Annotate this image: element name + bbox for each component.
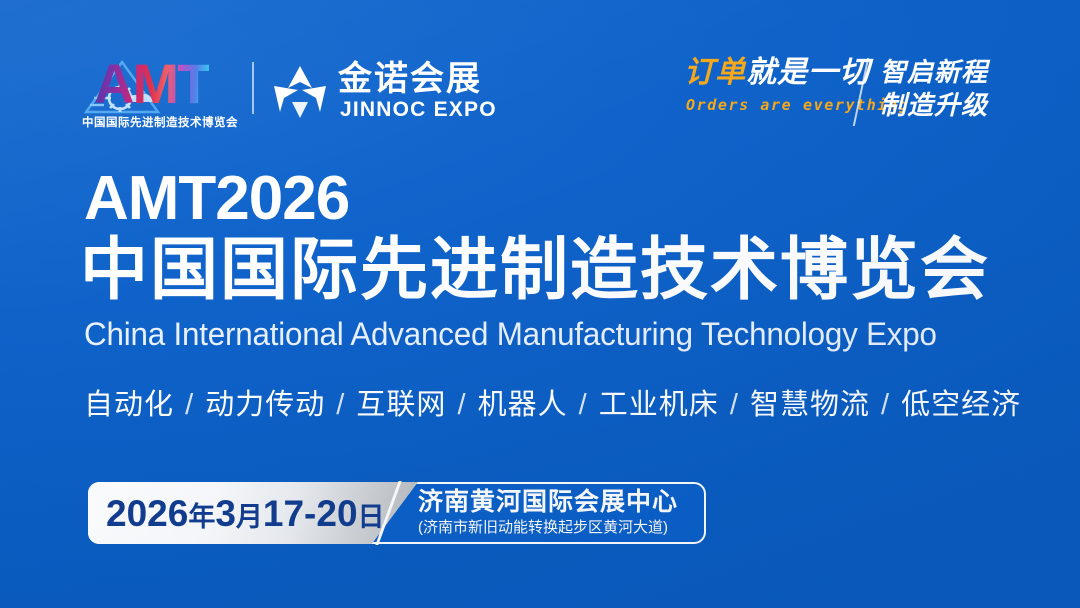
- event-poster: AMT 中国国际先进制造技术博览会 金诺会展 JINNOC EXPO 订单就是一…: [0, 0, 1080, 608]
- date-day-unit: 日: [358, 502, 385, 532]
- category-item: 互联网: [356, 389, 446, 421]
- date-days: 17-20: [263, 493, 358, 534]
- slogan-right-block: 智启新程 制造升级: [880, 56, 988, 122]
- venue-info: 济南黄河国际会展中心 (济南市新旧动能转换起步区黄河大道): [418, 488, 698, 537]
- poster-header: AMT 中国国际先进制造技术博览会 金诺会展 JINNOC EXPO 订单就是一…: [0, 48, 1080, 138]
- category-separator: /: [870, 389, 901, 421]
- category-item: 低空经济: [901, 389, 1021, 421]
- logo-divider: [252, 62, 254, 114]
- date-month: 3: [215, 493, 236, 534]
- slogan-line-1: 订单就是一切: [684, 56, 870, 90]
- slogan-line-english: Orders are everything: [686, 96, 909, 114]
- title-english: China International Advanced Manufacturi…: [84, 314, 937, 354]
- date-venue-bar: 2026年3月17-20日 济南黄河国际会展中心 (济南市新旧动能转换起步区黄河…: [88, 482, 706, 544]
- slogan-highlight: 订单: [684, 56, 746, 89]
- date-year-unit: 年: [188, 502, 215, 532]
- category-separator: /: [719, 389, 750, 421]
- slogan-right-line-1: 智启新程: [880, 56, 988, 89]
- header-slogan: 订单就是一切 Orders are everything 智启新程 制造升级: [684, 56, 1014, 132]
- amt-logo-subtitle: 中国国际先进制造技术博览会: [80, 114, 240, 130]
- category-separator: /: [568, 389, 599, 421]
- venue-name: 济南黄河国际会展中心: [418, 488, 698, 516]
- category-item: 工业机床: [599, 389, 719, 421]
- category-separator: /: [446, 389, 477, 421]
- category-item: 自动化: [84, 389, 174, 421]
- title-amt-year: AMT2026: [84, 166, 349, 232]
- jinnoc-name-en: JINNOC EXPO: [340, 98, 497, 122]
- jinnoc-name-cn: 金诺会展: [338, 60, 482, 98]
- slogan-right-line-2: 制造升级: [880, 89, 988, 122]
- category-item: 机器人: [478, 389, 568, 421]
- title-chinese: 中国国际先进制造技术博览会: [80, 232, 990, 308]
- amt-logo: AMT 中国国际先进制造技术博览会: [80, 58, 240, 136]
- category-separator: /: [325, 389, 356, 421]
- category-item: 智慧物流: [750, 389, 870, 421]
- category-list: 自动化 / 动力传动 / 互联网 / 机器人 / 工业机床 / 智慧物流 / 低…: [84, 386, 1021, 424]
- category-separator: /: [174, 389, 205, 421]
- slogan-plain: 就是一切: [746, 56, 870, 89]
- jinnoc-star-icon: [272, 64, 328, 120]
- amt-wordmark: AMT: [94, 56, 209, 112]
- date-year: 2026: [106, 493, 188, 534]
- event-date: 2026年3月17-20日: [106, 494, 385, 537]
- date-month-unit: 月: [236, 502, 263, 532]
- category-item: 动力传动: [205, 389, 325, 421]
- jinnoc-logo: 金诺会展 JINNOC EXPO: [272, 60, 472, 126]
- venue-address: (济南市新旧动能转换起步区黄河大道): [418, 518, 698, 537]
